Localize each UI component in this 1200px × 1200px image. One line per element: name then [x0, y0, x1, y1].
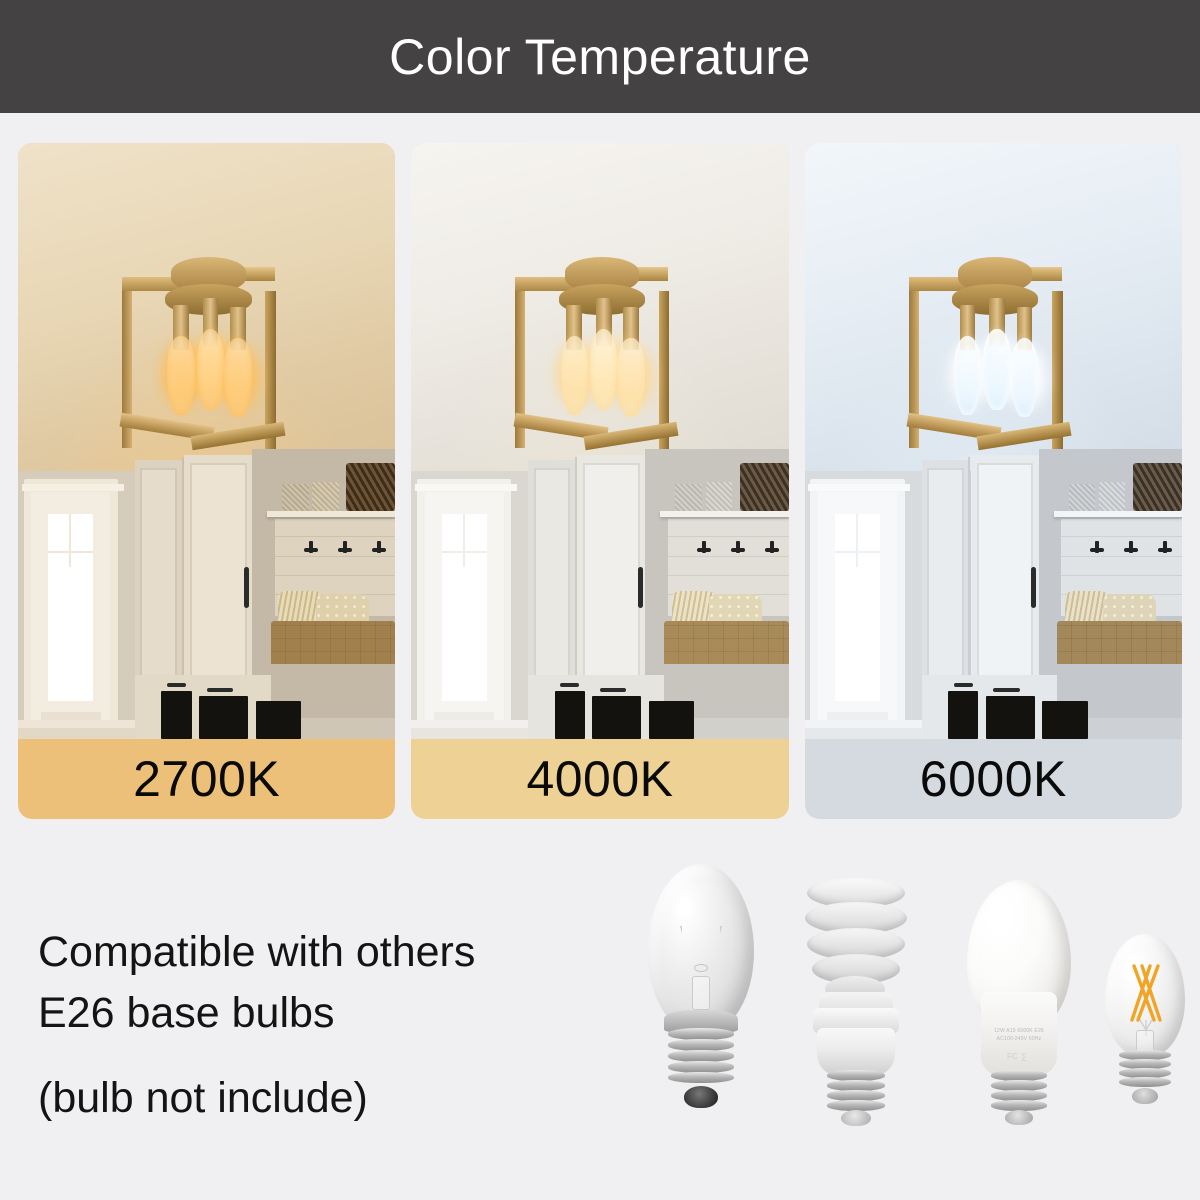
storage-shelf: [267, 511, 395, 517]
cabinet-seam: [968, 457, 970, 685]
edison-bulb-3: [224, 338, 251, 417]
edison-bulb-1: [954, 336, 981, 415]
edison-bulb-1: [561, 336, 588, 415]
cabinet-handle: [1031, 567, 1036, 607]
led-certification-marks: FC ∑: [1007, 1048, 1031, 1059]
floor: [411, 728, 528, 739]
compatibility-line-1: Compatible with others: [38, 922, 618, 983]
door-mullion-horizontal: [48, 551, 93, 553]
floor: [805, 728, 922, 739]
tall-cabinet-right-inset: [583, 463, 640, 699]
compatibility-section: Compatible with others E26 base bulbs (b…: [0, 830, 1200, 1200]
woven-basket-left: [675, 484, 701, 511]
incandescent-screw-base: [668, 1028, 734, 1090]
room-scene-4000k: [411, 143, 788, 739]
woven-tray: [740, 463, 789, 511]
incandescent-base-contact: [684, 1086, 718, 1108]
svg-text:∑: ∑: [1021, 1052, 1027, 1061]
coat-hook-2: [339, 541, 351, 553]
door-mullion-horizontal: [442, 551, 487, 553]
led-frosted-bulb: 12W A19 6000K E26 AC100-240V 60Hz FC ∑: [963, 880, 1075, 1120]
bench-cushion: [271, 621, 396, 664]
tall-cabinet-left-inset: [140, 468, 177, 699]
incandescent-stem: [692, 976, 710, 1010]
temperature-card-6000k[interactable]: 6000K: [805, 143, 1182, 819]
compatibility-text-block: Compatible with others E26 base bulbs (b…: [38, 922, 618, 1129]
led-spec-line-2: AC100-240V 60Hz: [981, 1036, 1057, 1044]
led-spec-line-1: 12W A19 6000K E26: [981, 1028, 1057, 1036]
cubby-1: [948, 691, 978, 739]
woven-tray: [346, 463, 395, 511]
temperature-label-2700k: 2700K: [18, 739, 395, 819]
temperature-card-2700k[interactable]: 2700K: [18, 143, 395, 819]
door-glass-lower: [48, 632, 93, 702]
compatibility-line-3: (bulb not include): [38, 1068, 618, 1129]
header-bar: Color Temperature: [0, 0, 1200, 113]
storage-shelf: [660, 511, 788, 517]
cubby-pull-1: [167, 683, 186, 687]
edison-bulb-3: [617, 338, 644, 417]
edison-bulb-2: [983, 329, 1010, 410]
woven-basket-left: [1069, 484, 1095, 511]
led-filament-base-contact: [1132, 1088, 1158, 1104]
cubby-1: [161, 691, 191, 739]
coat-hook-2: [732, 541, 744, 553]
temperature-label-6000k: 6000K: [805, 739, 1182, 819]
coat-hook-1: [305, 541, 317, 553]
door-mullion-vertical: [856, 514, 858, 568]
flush-mount-fixture-2700k: [112, 238, 308, 476]
text-spacer: [38, 1044, 618, 1068]
mudroom-interior: [411, 471, 788, 739]
door-header-trim: [22, 484, 124, 491]
bench-cushion: [1057, 621, 1182, 664]
edison-bulb-2: [197, 329, 224, 410]
cabinet-seam: [182, 457, 184, 685]
cubby-3: [256, 701, 301, 739]
woven-basket-mid: [312, 482, 338, 512]
room-scene-6000k: [805, 143, 1182, 739]
tall-cabinet-left-inset: [534, 468, 571, 699]
coat-hook-3: [1159, 541, 1171, 553]
coat-hook-2: [1125, 541, 1137, 553]
floor: [18, 728, 135, 739]
cage-bar-front-right: [659, 291, 670, 467]
door-mullion-vertical: [69, 514, 71, 568]
compatible-bulb-lineup: 12W A19 6000K E26 AC100-240V 60Hz FC ∑: [630, 842, 1190, 1142]
led-filament-strands: [1120, 962, 1172, 1040]
coat-hook-1: [1091, 541, 1103, 553]
cubby-2: [592, 696, 641, 739]
cfl-spiral-bulb: [803, 876, 909, 1120]
room-scene-2700k: [18, 143, 395, 739]
cage-bar-front-right: [265, 291, 276, 467]
tall-cabinet-left-inset: [927, 468, 964, 699]
mudroom-interior: [805, 471, 1182, 739]
woven-tray: [1133, 463, 1182, 511]
led-frosted-screw-base: [991, 1070, 1047, 1114]
led-filament-stem: [1136, 1030, 1154, 1052]
edison-bulb-3: [1011, 338, 1038, 417]
mudroom-interior: [18, 471, 395, 739]
svg-text:FC: FC: [1007, 1052, 1018, 1061]
coat-hook-3: [766, 541, 778, 553]
edison-bulb-1: [167, 336, 194, 415]
cubby-2: [986, 696, 1035, 739]
door-header-trim: [415, 484, 517, 491]
cfl-ballast-housing: [817, 1028, 895, 1076]
cubby-2: [199, 696, 248, 739]
compatibility-line-2: E26 base bulbs: [38, 983, 618, 1044]
bench-cushion: [664, 621, 789, 664]
cabinet-handle: [638, 567, 643, 607]
woven-basket-left: [282, 484, 308, 511]
cubby-pull-2: [993, 688, 1019, 692]
cubby-pull-2: [600, 688, 626, 692]
door-mullion-horizontal: [835, 551, 880, 553]
coat-hook-1: [698, 541, 710, 553]
temperature-label-4000k: 4000K: [411, 739, 788, 819]
cfl-base-contact: [841, 1110, 871, 1126]
cfl-screw-base: [827, 1070, 885, 1114]
storage-shelf: [1054, 511, 1182, 517]
edison-bulb-2: [590, 329, 617, 410]
cubby-3: [649, 701, 694, 739]
door-header-trim: [808, 484, 910, 491]
led-frosted-base-contact: [1005, 1110, 1033, 1125]
cubby-pull-1: [954, 683, 973, 687]
woven-basket-mid: [706, 482, 732, 512]
door-glass-lower: [442, 632, 487, 702]
tall-cabinet-right-inset: [977, 463, 1034, 699]
led-filament-bulb: [1102, 934, 1188, 1120]
cubby-pull-2: [207, 688, 233, 692]
page-title: Color Temperature: [389, 32, 811, 82]
temperature-card-4000k[interactable]: 4000K: [411, 143, 788, 819]
door-glass-lower: [835, 632, 880, 702]
cabinet-handle: [244, 567, 249, 607]
incandescent-filament-coil: [694, 964, 708, 972]
door-mullion-vertical: [463, 514, 465, 568]
cubby-1: [555, 691, 585, 739]
incandescent-bulb: [642, 864, 760, 1120]
temperature-comparison-row: 2700K: [18, 143, 1182, 819]
cage-bar-front-right: [1052, 291, 1063, 467]
flush-mount-fixture-4000k: [506, 238, 702, 476]
cubby-3: [1042, 701, 1087, 739]
flush-mount-fixture-6000k: [899, 238, 1095, 476]
coat-hook-3: [373, 541, 385, 553]
tall-cabinet-right-inset: [190, 463, 247, 699]
cabinet-seam: [575, 457, 577, 685]
woven-basket-mid: [1099, 482, 1125, 512]
led-filament-screw-base: [1119, 1050, 1171, 1092]
cubby-pull-1: [560, 683, 579, 687]
